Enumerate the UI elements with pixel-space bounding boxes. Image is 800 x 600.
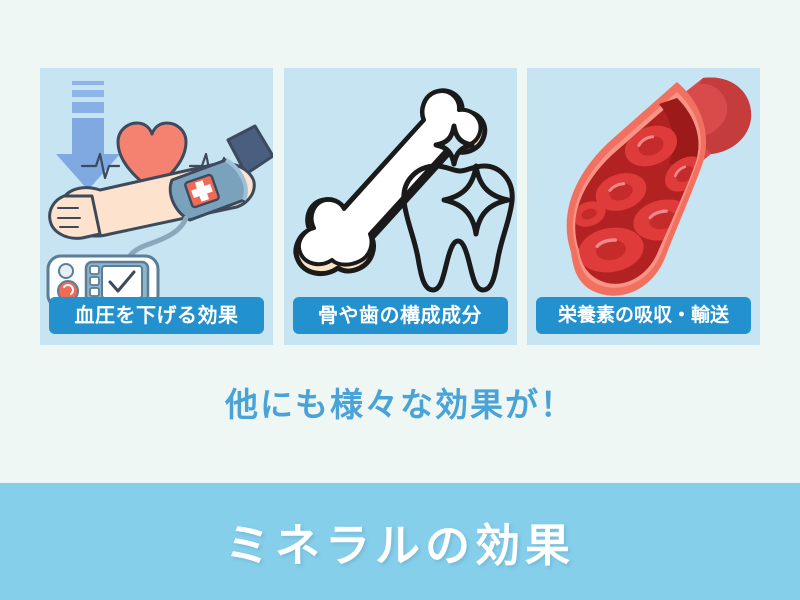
panel-caption-badge: 栄養素の吸収・輸送 [536,297,751,334]
bone-and-tooth-illustration [284,68,517,308]
slide-canvas: 血圧を下げる効果 骨や歯の構成成分 [0,0,800,600]
display-screen [102,266,142,298]
tagline-text: 他にも様々な効果が！ [225,386,575,423]
panel-row: 血圧を下げる効果 骨や歯の構成成分 [40,68,760,345]
blood-vessel-red-blood-cells-illustration [527,68,760,308]
bone-icon [295,91,484,274]
panel-bone-teeth[interactable]: 骨や歯の構成成分 [284,68,517,345]
panel-blood-pressure[interactable]: 血圧を下げる効果 [40,68,273,345]
blood-pressure-monitor-heart-arrow-illustration [40,68,273,308]
panel-nutrient-transport[interactable]: 栄養素の吸収・輸送 [527,68,760,345]
panel-caption-badge: 血圧を下げる効果 [49,297,264,334]
down-arrow-icon [56,81,120,190]
panel-caption-text: 栄養素の吸収・輸送 [558,306,729,325]
panel-caption-badge: 骨や歯の構成成分 [293,297,508,334]
title-banner: ミネラルの効果 [0,483,800,600]
panel-caption-text: 血圧を下げる効果 [75,306,239,326]
tagline: 他にも様々な効果が！ [0,378,800,426]
panel-caption-text: 骨や歯の構成成分 [318,306,482,326]
sparkle-icon [444,166,508,234]
banner-title: ミネラルの効果 [225,509,575,574]
